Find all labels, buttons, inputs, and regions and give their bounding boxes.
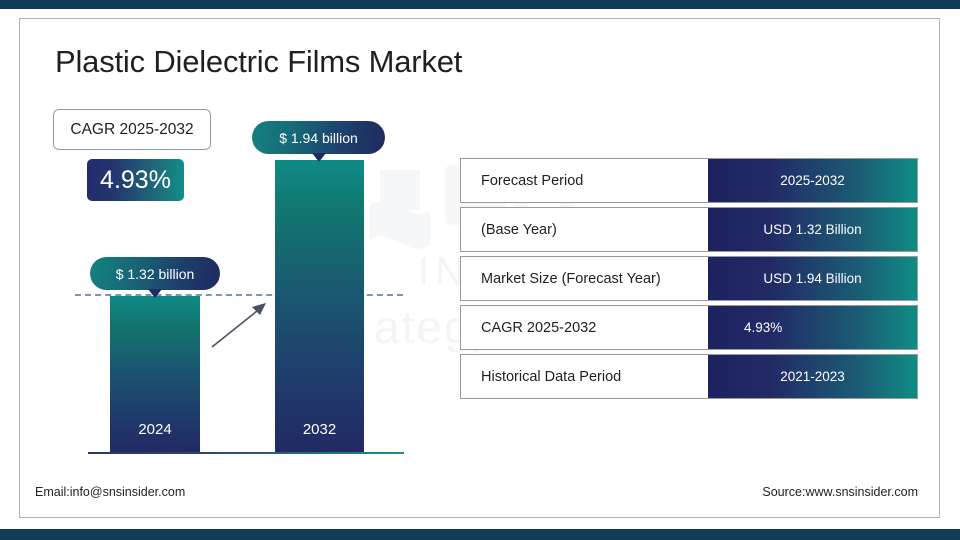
- table-row: Historical Data Period 2021-2023: [460, 354, 918, 399]
- table-cell-label: (Base Year): [461, 208, 708, 251]
- table-cell-value: 2021-2023: [708, 355, 917, 398]
- page-title: Plastic Dielectric Films Market: [55, 44, 462, 80]
- slide: INSIDER ategy & stats Plastic Dielectric…: [0, 0, 960, 540]
- footer-source: Source:www.snsinsider.com: [762, 485, 918, 499]
- table-cell-value: USD 1.32 Billion: [708, 208, 917, 251]
- cagr-value-badge: 4.93%: [87, 159, 184, 201]
- table-cell-value: 2025-2032: [708, 159, 917, 202]
- table-cell-label: Historical Data Period: [461, 355, 708, 398]
- table-row: CAGR 2025-2032 4.93%: [460, 305, 918, 350]
- footer-email: Email:info@snsinsider.com: [35, 485, 185, 499]
- table-cell-value: USD 1.94 Billion: [708, 257, 917, 300]
- summary-table: Forecast Period 2025-2032 (Base Year) US…: [460, 158, 918, 403]
- table-row: Forecast Period 2025-2032: [460, 158, 918, 203]
- top-accent-bar: [0, 0, 960, 9]
- table-row: (Base Year) USD 1.32 Billion: [460, 207, 918, 252]
- table-cell-label: Forecast Period: [461, 159, 708, 202]
- bottom-accent-bar: [0, 529, 960, 540]
- table-cell-value: 4.93%: [708, 306, 917, 349]
- table-row: Market Size (Forecast Year) USD 1.94 Bil…: [460, 256, 918, 301]
- table-cell-label: CAGR 2025-2032: [461, 306, 708, 349]
- cagr-label: CAGR 2025-2032: [53, 109, 211, 150]
- table-cell-label: Market Size (Forecast Year): [461, 257, 708, 300]
